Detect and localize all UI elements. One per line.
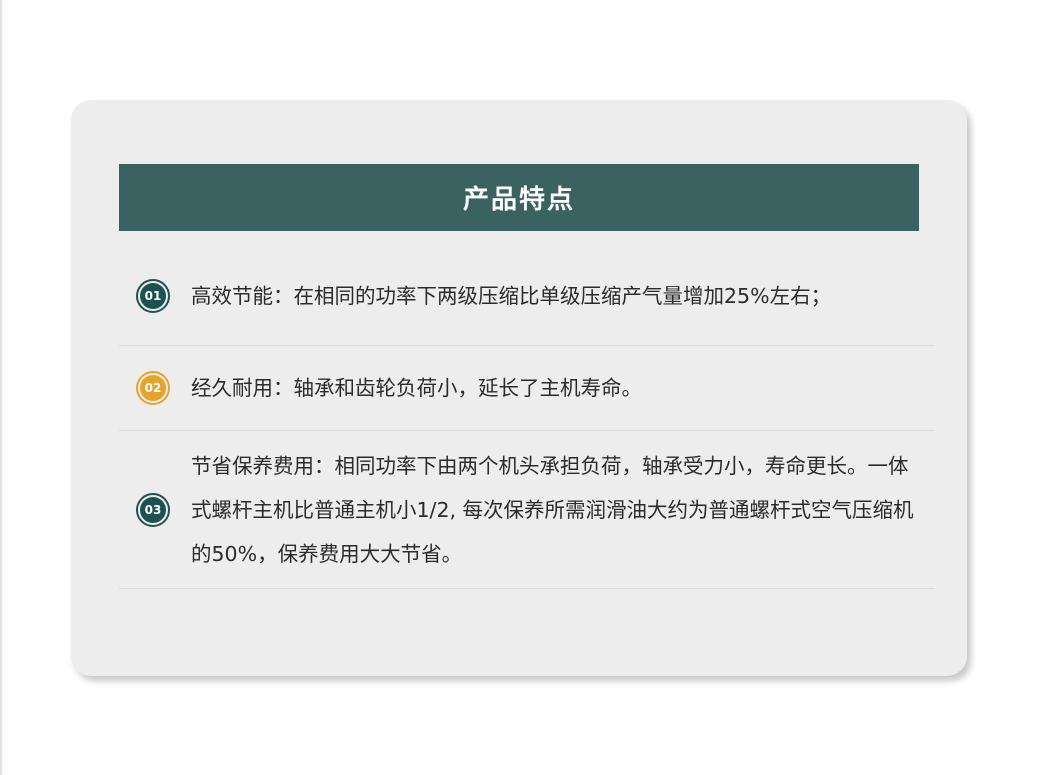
badge-number-label: 03 — [145, 504, 162, 516]
feature-text-02: 经久耐用：轴承和齿轮负荷小，延长了主机寿命。 — [191, 366, 935, 410]
badge-number-label: 01 — [145, 290, 162, 302]
feature-number-badge-01: 01 — [136, 279, 170, 313]
page-title: 产品特点 — [463, 179, 575, 216]
feature-list: 01 高效节能：在相同的功率下两级压缩比单级压缩产气量增加25%左右； 02 经… — [119, 246, 935, 589]
list-item: 01 高效节能：在相同的功率下两级压缩比单级压缩产气量增加25%左右； — [119, 246, 935, 346]
page-left-edge-line — [0, 0, 2, 775]
feature-text-03: 节省保养费用：相同功率下由两个机头承担负荷，轴承受力小，寿命更长。一体式螺杆主机… — [191, 444, 935, 576]
badge-number-label: 02 — [145, 382, 162, 394]
card-header-banner: 产品特点 — [119, 164, 919, 231]
product-features-card: 产品特点 01 高效节能：在相同的功率下两级压缩比单级压缩产气量增加25%左右；… — [71, 100, 967, 676]
feature-number-badge-02: 02 — [136, 371, 170, 405]
list-item: 02 经久耐用：轴承和齿轮负荷小，延长了主机寿命。 — [119, 346, 935, 431]
list-item: 03 节省保养费用：相同功率下由两个机头承担负荷，轴承受力小，寿命更长。一体式螺… — [119, 431, 935, 589]
feature-text-01: 高效节能：在相同的功率下两级压缩比单级压缩产气量增加25%左右； — [191, 274, 935, 318]
feature-number-badge-03: 03 — [136, 493, 170, 527]
